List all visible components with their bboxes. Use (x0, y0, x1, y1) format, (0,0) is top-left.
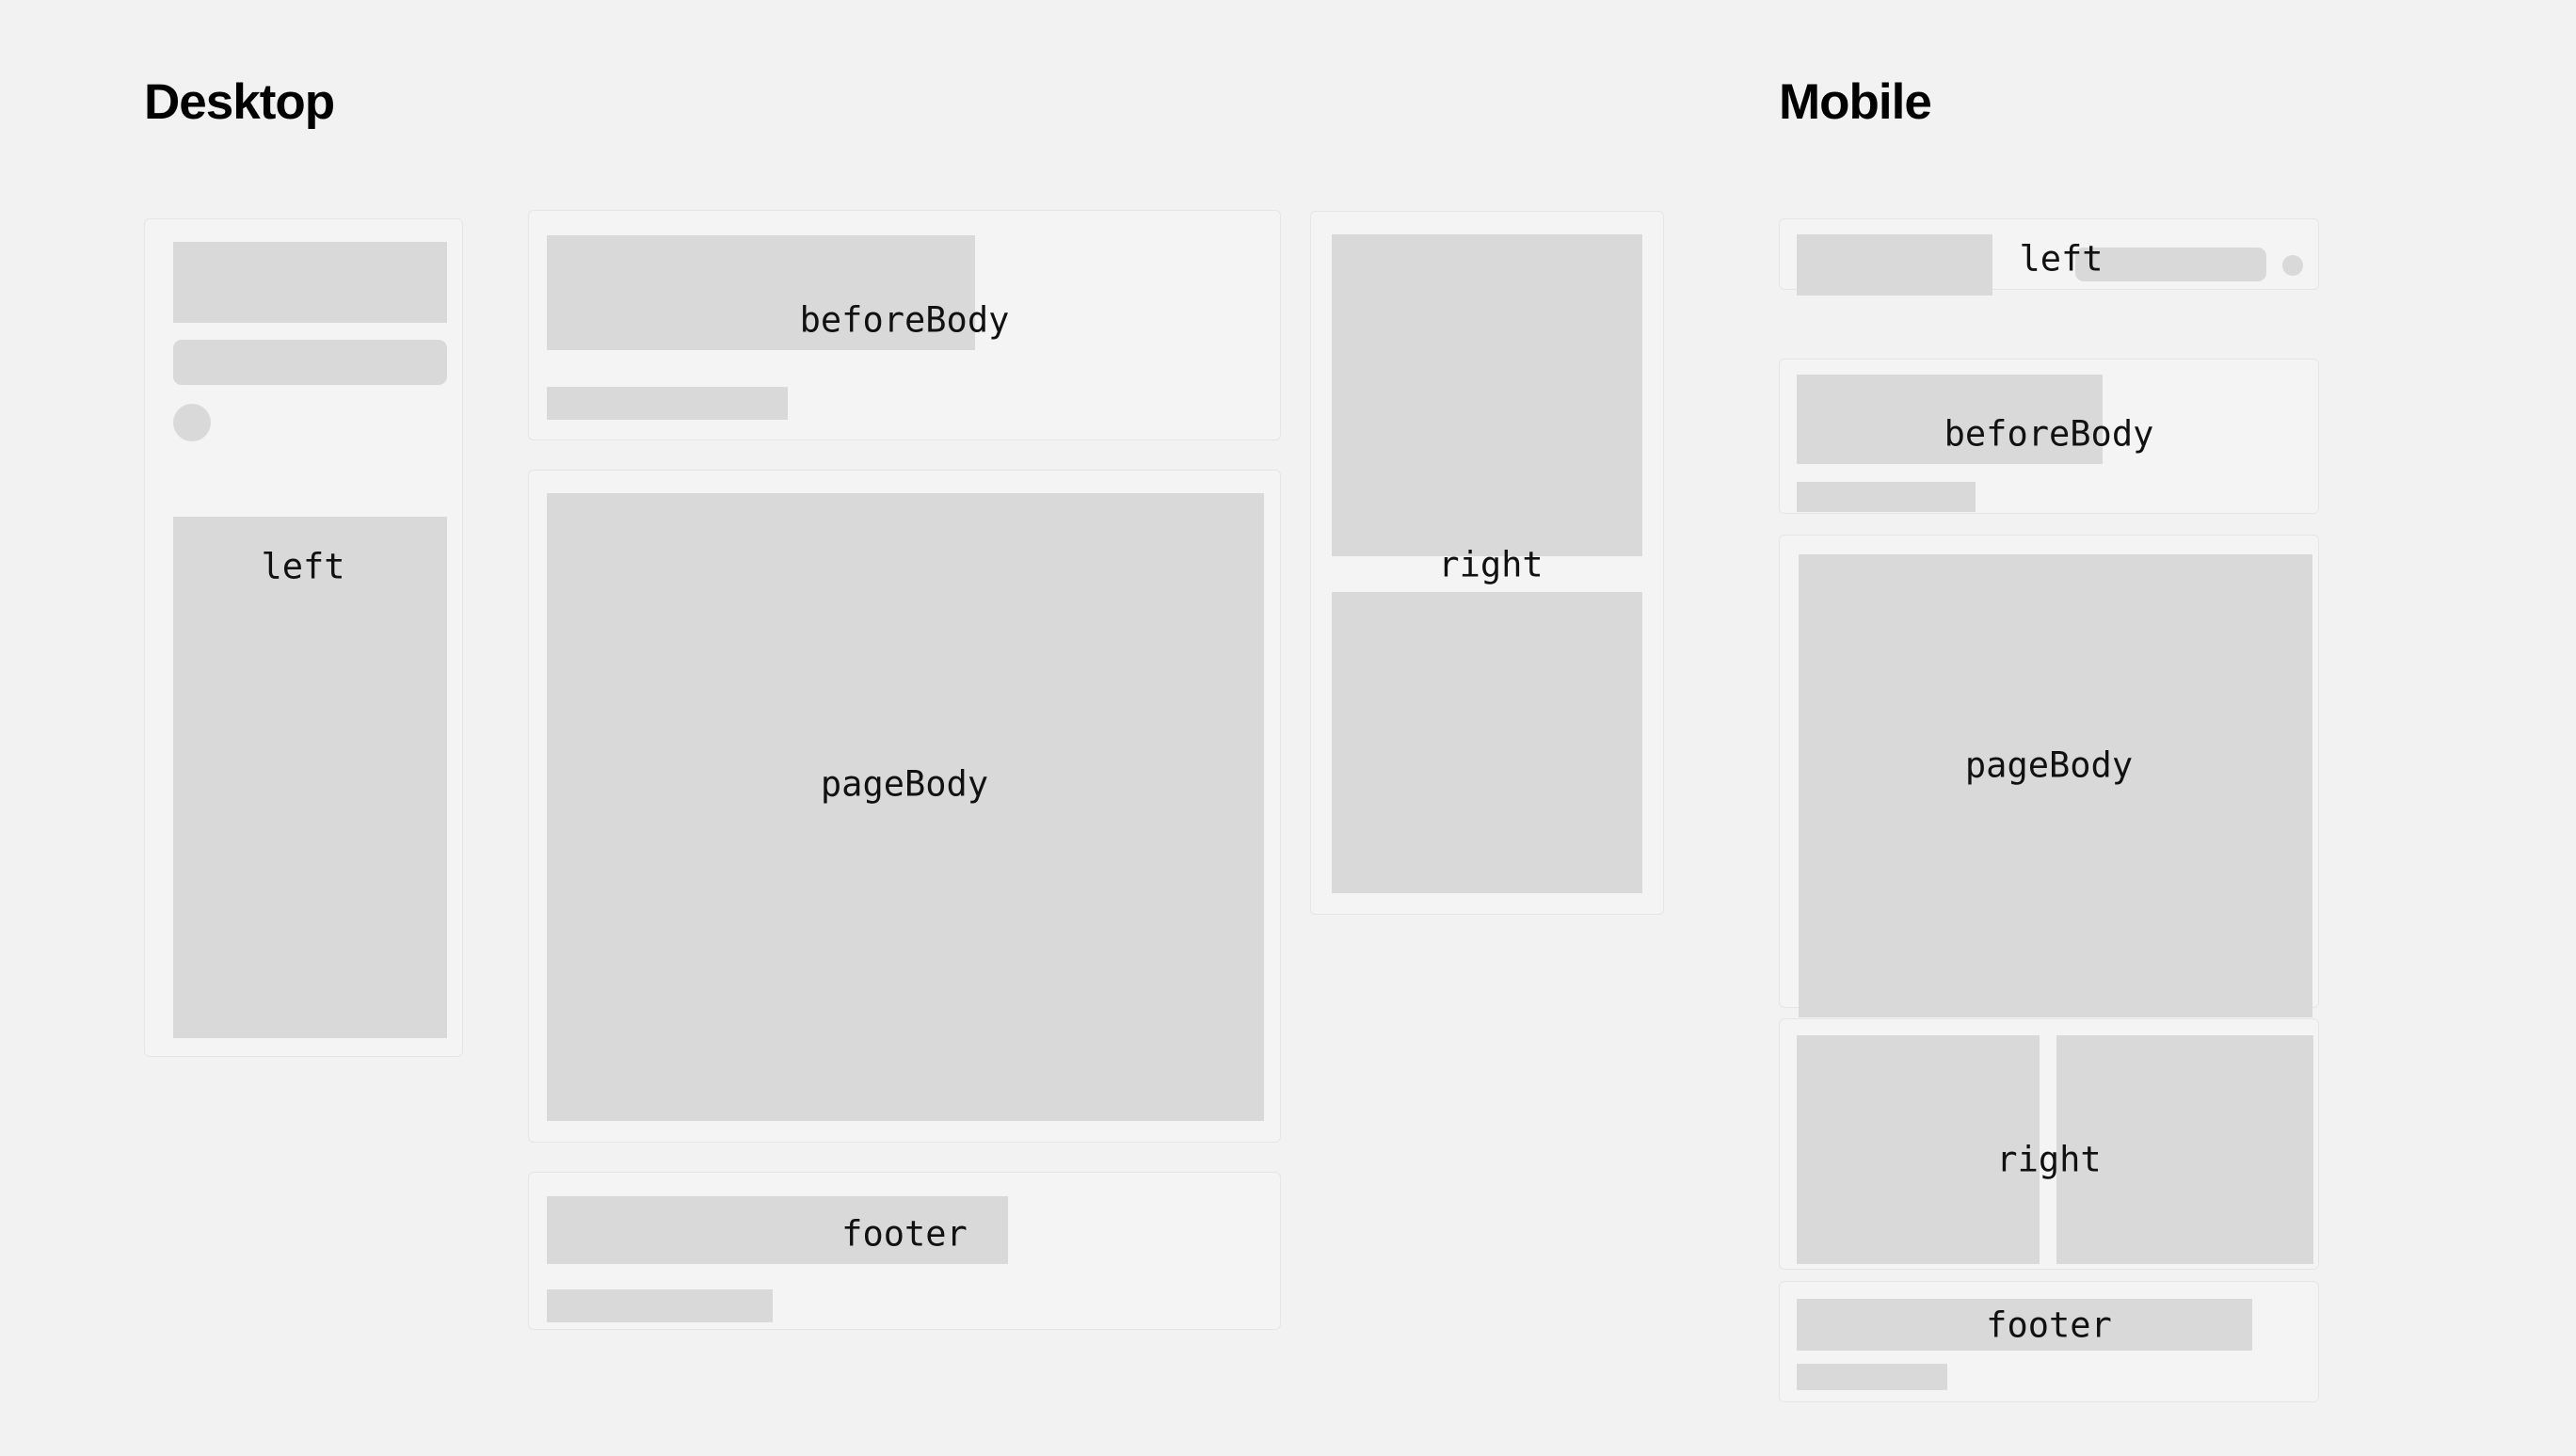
desktop-left-panel[interactable] (144, 218, 463, 1057)
skeleton-block (1797, 375, 2103, 464)
skeleton-block (547, 493, 1264, 1121)
skeleton-block (1332, 234, 1642, 556)
skeleton-block (547, 1289, 773, 1322)
skeleton-pill (2075, 248, 2266, 281)
desktop-before-body-panel[interactable] (528, 210, 1281, 440)
desktop-section-title: Desktop (144, 77, 334, 127)
mobile-right-panel[interactable] (1779, 1018, 2319, 1270)
skeleton-circle (2282, 255, 2303, 276)
mobile-before-body-panel[interactable] (1779, 359, 2319, 514)
desktop-right-panel[interactable] (1310, 211, 1664, 915)
skeleton-block (1797, 234, 1992, 296)
skeleton-block (1797, 482, 1976, 512)
skeleton-block (173, 242, 447, 323)
desktop-footer-panel[interactable] (528, 1172, 1281, 1330)
mobile-left-panel[interactable] (1779, 218, 2319, 290)
skeleton-block (1797, 1299, 2252, 1351)
skeleton-block (547, 387, 788, 420)
skeleton-block (1332, 592, 1642, 893)
skeleton-block (2056, 1035, 2313, 1264)
skeleton-block (1797, 1364, 1947, 1390)
mobile-section-title: Mobile (1779, 77, 1931, 127)
skeleton-block (1797, 1035, 2040, 1264)
mobile-footer-panel[interactable] (1779, 1281, 2319, 1402)
skeleton-pill (173, 340, 447, 385)
mobile-page-body-panel[interactable] (1779, 535, 2319, 1008)
skeleton-block (547, 1196, 1008, 1264)
desktop-page-body-panel[interactable] (528, 470, 1281, 1143)
skeleton-block (547, 235, 975, 350)
skeleton-circle (173, 404, 211, 441)
skeleton-block (173, 517, 447, 1038)
skeleton-block (1799, 554, 2312, 1017)
